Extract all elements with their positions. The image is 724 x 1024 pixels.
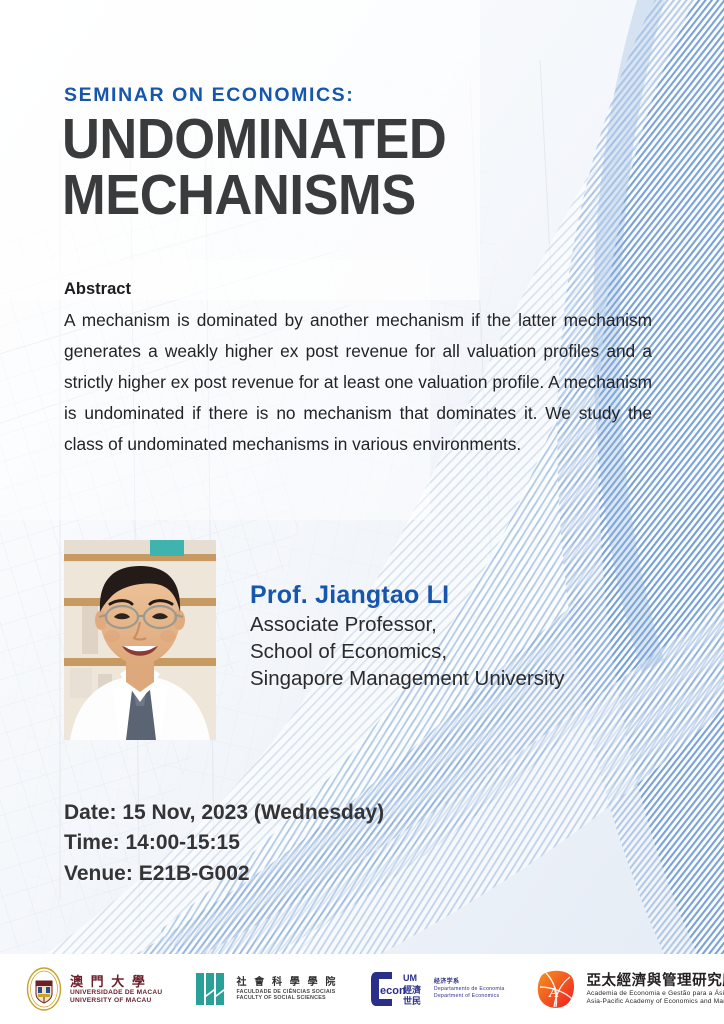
apaem-mark-icon: A <box>536 967 578 1011</box>
speaker-name: Prof. Jiangtao LI <box>250 580 650 611</box>
um-name-en: UNIVERSITY OF MACAU <box>70 997 162 1005</box>
speaker-school: School of Economics, <box>250 638 650 665</box>
title-line-2: MECHANISMS <box>62 168 577 224</box>
um-name-cn: 澳 門 大 學 <box>70 974 162 989</box>
abstract-text: A mechanism is dominated by another mech… <box>64 305 652 460</box>
event-details: Date: 15 Nov, 2023 (Wednesday) Time: 14:… <box>64 798 384 889</box>
apaem-logo-text: 亞太經濟與管理研究所 Academia de Economia e Gestão… <box>586 973 724 1005</box>
apaem-name-pt: Academia de Economia e Gestão para a Ási… <box>586 990 724 998</box>
svg-text:經濟: 經濟 <box>403 984 421 995</box>
fss-name-cn: 社 會 科 學 學 院 <box>236 977 337 989</box>
fss-name-en: FACULTY OF SOCIAL SCIENCES <box>236 995 337 1001</box>
um-logo-text: 澳 門 大 學 UNIVERSIDADE DE MACAU UNIVERSITY… <box>70 974 162 1005</box>
econ-name-cn: 经济学系 <box>434 979 505 986</box>
page-title: UNDOMINATED MECHANISMS <box>62 112 577 224</box>
um-name-pt: UNIVERSIDADE DE MACAU <box>70 989 162 997</box>
footer-logo-bar: 澳 門 大 學 UNIVERSIDADE DE MACAU UNIVERSITY… <box>0 954 724 1024</box>
econ-name-pt: Departamento de Economia <box>434 986 505 992</box>
fss-logo-text: 社 會 科 學 學 院 FACULDADE DE CIÊNCIAS SOCIAI… <box>236 977 337 1002</box>
speaker-photo <box>64 540 216 740</box>
um-crest-icon <box>26 967 62 1011</box>
logo-university-of-macau: 澳 門 大 學 UNIVERSIDADE DE MACAU UNIVERSITY… <box>26 967 162 1011</box>
apaem-name-cn: 亞太經濟與管理研究所 <box>586 973 724 990</box>
apaem-name-en: Asia-Pacific Academy of Economics and Ma… <box>586 998 724 1006</box>
svg-text:A: A <box>548 985 559 1001</box>
event-time: Time: 14:00-15:15 <box>64 828 384 858</box>
fss-name-pt: FACULDADE DE CIÊNCIAS SOCIAIS <box>236 989 337 995</box>
abstract-heading: Abstract <box>64 280 131 299</box>
speaker-title: Associate Professor, <box>250 611 650 638</box>
fss-mark-icon <box>194 969 228 1009</box>
logo-faculty-of-social-sciences: 社 會 科 學 學 院 FACULDADE DE CIÊNCIAS SOCIAI… <box>194 969 337 1009</box>
logo-department-of-economics: econ UM 經濟 世民 经济学系 Departamento de Econo… <box>370 969 505 1009</box>
speaker-portrait-illustration <box>64 540 216 740</box>
seminar-kicker: SEMINAR ON ECONOMICS: <box>64 84 354 107</box>
umecon-mark-icon: econ UM 經濟 世民 <box>370 969 426 1009</box>
event-venue: Venue: E21B-G002 <box>64 859 384 889</box>
logo-asia-pacific-academy: A 亞太經濟與管理研究所 Academia de Economia e Gest… <box>536 967 724 1011</box>
title-line-1: UNDOMINATED <box>62 112 577 168</box>
econ-name-en: Department of Economics <box>434 993 505 999</box>
svg-text:世民: 世民 <box>403 995 421 1006</box>
speaker-institution: Singapore Management University <box>250 665 650 692</box>
svg-text:UM: UM <box>403 973 417 983</box>
speaker-block: Prof. Jiangtao LI Associate Professor, S… <box>250 580 650 692</box>
event-date: Date: 15 Nov, 2023 (Wednesday) <box>64 798 384 828</box>
seminar-poster: SEMINAR ON ECONOMICS: UNDOMINATED MECHAN… <box>0 0 724 1024</box>
econ-logo-text: 经济学系 Departamento de Economia Department… <box>434 979 505 998</box>
